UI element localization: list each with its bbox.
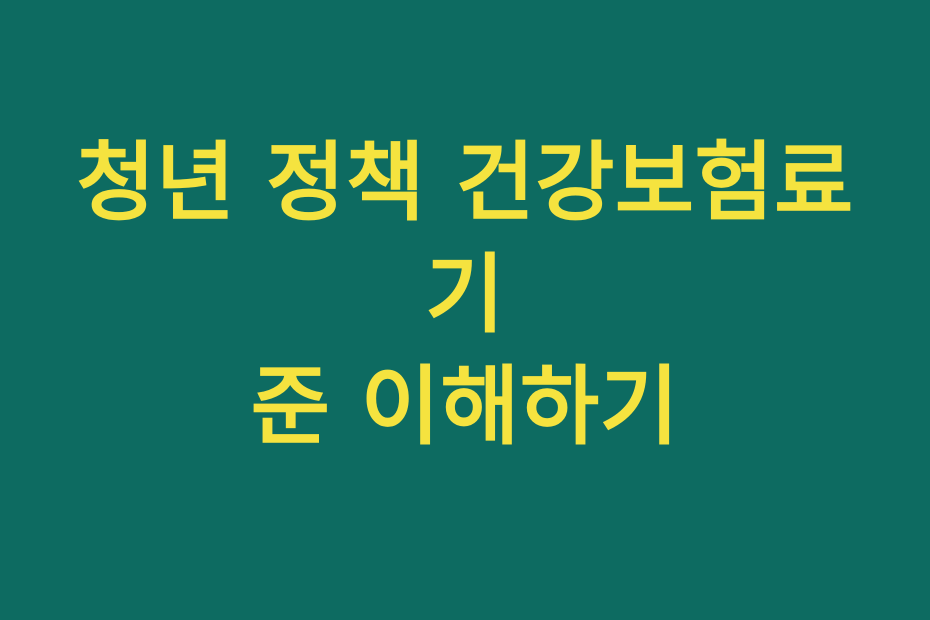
- page-title-line-1: 청년 정책 건강보험료 기: [55, 127, 875, 351]
- headline-block: 청년 정책 건강보험료 기 준 이해하기: [35, 127, 895, 463]
- page-title: 청년 정책 건강보험료 기 준 이해하기: [55, 127, 875, 463]
- title-card: 청년 정책 건강보험료 기 준 이해하기: [0, 0, 930, 620]
- page-title-line-2: 준 이해하기: [55, 351, 875, 463]
